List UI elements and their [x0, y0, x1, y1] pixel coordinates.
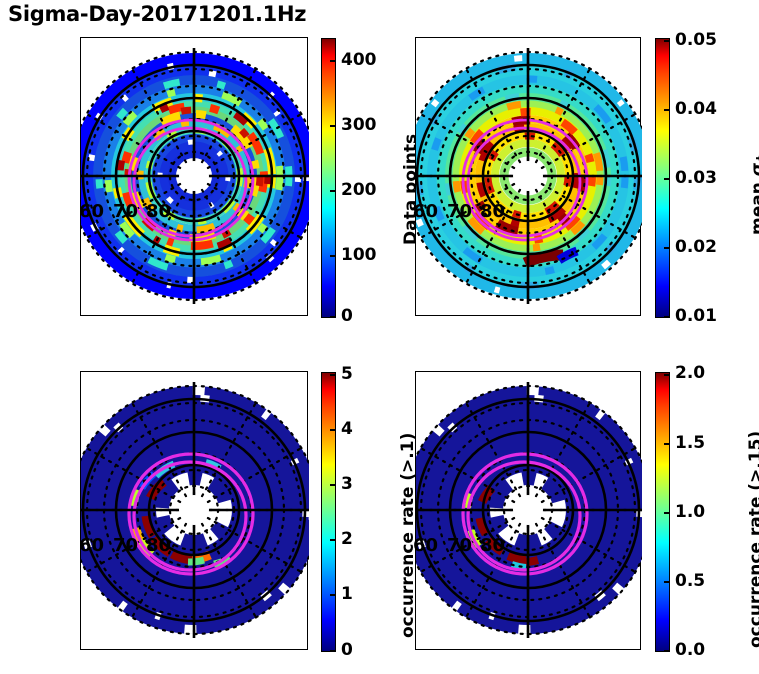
latitude-label-60: 60	[79, 201, 104, 222]
cb3-tickmark-0	[330, 650, 336, 652]
cb4-tick-10: 1.0	[675, 504, 705, 521]
pole-hole	[179, 495, 209, 525]
cb2-tick-004: 0.04	[675, 101, 717, 118]
cb1-tickmark-300	[330, 125, 336, 127]
cb1-tickmark-0	[330, 316, 336, 318]
cb1-tick-400: 400	[341, 52, 377, 69]
polar-map-occurrence-rate-01	[81, 372, 309, 651]
latitude-label-60: 60	[413, 201, 438, 222]
cb2-tickmark-002	[664, 247, 670, 249]
cb4-tick-15: 1.5	[675, 435, 705, 452]
cb4-tick-05: 0.5	[675, 573, 705, 590]
cb3-tickmark-5	[330, 374, 336, 376]
cb3-tickmark-4	[330, 429, 336, 431]
latitude-label-60: 60	[413, 535, 438, 556]
panel-data-points: 60 70 80	[80, 37, 308, 316]
cb4-tickmark-05	[664, 581, 670, 583]
cb3-tick-5: 5	[341, 366, 353, 383]
pole-hole	[513, 495, 543, 525]
colorbar-occurrence-rate-01	[321, 372, 336, 652]
cb3-tick-2: 2	[341, 531, 353, 548]
cb4-tick-00: 0.0	[675, 642, 705, 659]
cb3-tickmark-3	[330, 484, 336, 486]
cb2-tickmark-003	[664, 178, 670, 180]
cb2-tickmark-001	[664, 316, 670, 318]
cb1-tick-100: 100	[341, 247, 377, 264]
cb3-tickmark-2	[330, 539, 336, 541]
polar-map-mean-sigma-phi	[416, 38, 642, 317]
pole-hole	[179, 161, 209, 191]
latitude-label-80: 80	[146, 201, 171, 222]
cb2-tickmark-005	[664, 40, 670, 42]
polar-map-occurrence-rate-015	[416, 372, 642, 651]
pole-hole	[513, 161, 543, 191]
cb2-tick-002: 0.02	[675, 239, 717, 256]
cb4-tickmark-10	[664, 512, 670, 514]
cb2-tick-001: 0.01	[675, 308, 717, 325]
latitude-label-70: 70	[447, 535, 472, 556]
polar-map-data-points	[81, 38, 309, 317]
panel-occurrence-rate-015: 60 70 80	[415, 371, 641, 650]
latitude-label-80: 80	[146, 535, 171, 556]
cb1-tickmark-400	[330, 60, 336, 62]
cb3-tickmark-1	[330, 594, 336, 596]
cb2-tick-003: 0.03	[675, 170, 717, 187]
latitude-label-80: 80	[480, 535, 505, 556]
cb1-tickmark-200	[330, 190, 336, 192]
cb4-tickmark-20	[664, 374, 670, 376]
colorbar-label-occurrence-rate-015: occurrence rate (>.15)	[748, 431, 759, 648]
latitude-label-70: 70	[113, 201, 138, 222]
colorbar-label-mean-sigma-phi: mean σϕ	[750, 153, 759, 235]
figure-root: Sigma-Day-20171201.1Hz	[0, 0, 759, 674]
cb1-tick-200: 200	[341, 182, 377, 199]
cb4-tickmark-00	[664, 650, 670, 652]
colorbar-gradient-occurrence-rate-01	[322, 373, 335, 651]
colorbar-gradient-data-points	[322, 39, 335, 317]
cb1-tick-300: 300	[341, 117, 377, 134]
colorbar-data-points	[321, 38, 336, 318]
cb1-tick-0: 0	[341, 308, 353, 325]
latitude-label-60: 60	[79, 535, 104, 556]
latitude-label-80: 80	[480, 201, 505, 222]
colorbar-ticks-mean-sigma-phi: 0.05 0.04 0.03 0.02 0.01	[670, 38, 759, 318]
cb4-tickmark-15	[664, 443, 670, 445]
latitude-label-70: 70	[113, 535, 138, 556]
cb2-tickmark-004	[664, 109, 670, 111]
panel-occurrence-rate-01: 60 70 80	[80, 371, 308, 650]
cb4-tick-20: 2.0	[675, 365, 705, 382]
cb3-tick-4: 4	[341, 421, 353, 438]
figure-title: Sigma-Day-20171201.1Hz	[8, 2, 306, 26]
cb3-tick-0: 0	[341, 642, 353, 659]
cb1-tickmark-100	[330, 255, 336, 257]
cb2-tick-005: 0.05	[675, 32, 717, 49]
latitude-label-70: 70	[447, 201, 472, 222]
cb3-tick-1: 1	[341, 586, 353, 603]
panel-mean-sigma-phi: 60 70 80	[415, 37, 641, 316]
cb3-tick-3: 3	[341, 476, 353, 493]
